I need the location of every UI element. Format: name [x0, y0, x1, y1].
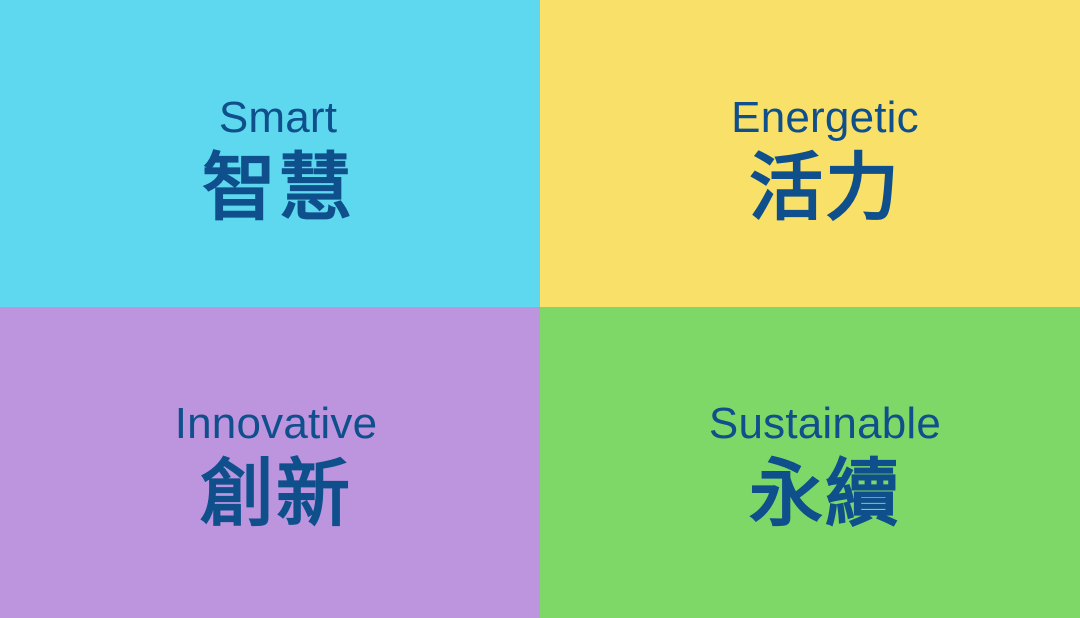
quadrant-sustainable[interactable]: Sustainable 永續 [540, 307, 1080, 618]
label-en-smart: Smart [219, 96, 337, 140]
quadrant-innovative[interactable]: Innovative 創新 [0, 307, 540, 618]
label-en-energetic: Energetic [731, 96, 919, 140]
quadrant-smart[interactable]: Smart 智慧 [0, 0, 540, 307]
label-en-innovative: Innovative [175, 402, 378, 446]
label-zh-energetic: 活力 [749, 149, 901, 229]
label-stack-smart: Smart 智慧 [202, 96, 354, 229]
label-stack-energetic: Energetic 活力 [731, 96, 919, 229]
quadrant-energetic[interactable]: Energetic 活力 [540, 0, 1080, 307]
label-stack-sustainable: Sustainable 永續 [709, 402, 941, 535]
brand-values-grid: Smart 智慧 Energetic 活力 Innovative 創新 Sust… [0, 0, 1080, 618]
label-zh-innovative: 創新 [200, 455, 352, 535]
label-zh-smart: 智慧 [202, 149, 354, 229]
label-stack-innovative: Innovative 創新 [175, 402, 378, 535]
label-zh-sustainable: 永續 [749, 455, 901, 535]
label-en-sustainable: Sustainable [709, 402, 941, 446]
